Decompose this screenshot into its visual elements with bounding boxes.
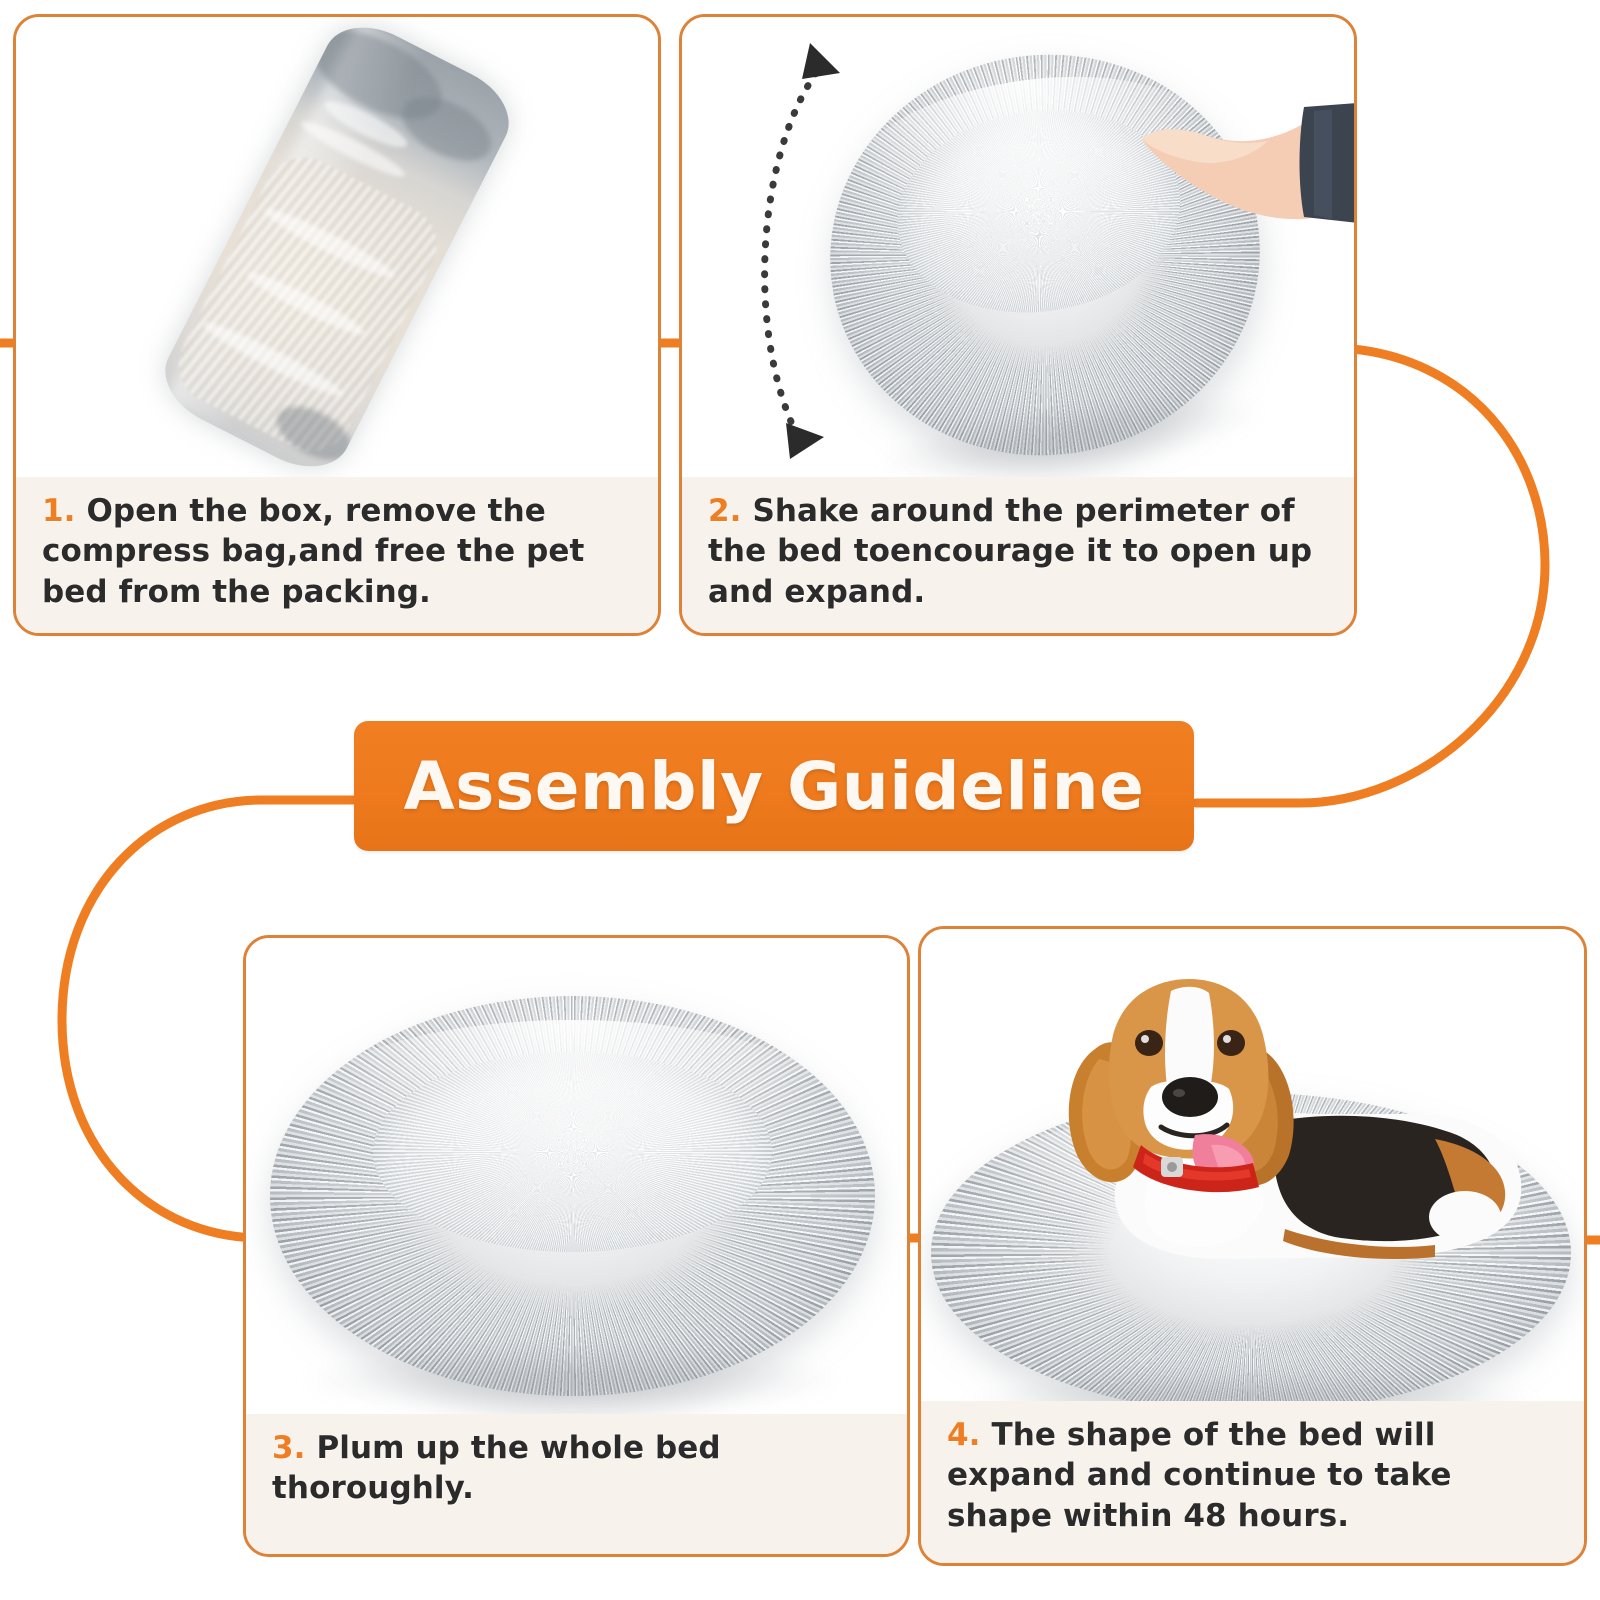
step-card-2: 2. Shake around the perimeter of the bed… [679, 14, 1357, 636]
assembly-guideline-infographic: 1. Open the box, remove the compress bag… [0, 0, 1600, 1600]
step-1-number: 1. [42, 493, 76, 529]
step-2-number: 2. [708, 493, 742, 529]
step-2-illustration [682, 17, 1354, 477]
step-2-caption: 2. Shake around the perimeter of the bed… [682, 477, 1354, 633]
step-1-caption: 1. Open the box, remove the compress bag… [16, 477, 658, 633]
shake-arrow-icon [728, 27, 948, 467]
step-card-1: 1. Open the box, remove the compress bag… [13, 14, 661, 636]
step-3-text: Plum up the whole bed thoroughly. [272, 1430, 721, 1506]
step-card-4: 4. The shape of the bed will expand and … [918, 926, 1587, 1566]
step-3-number: 3. [272, 1430, 306, 1466]
step-2-text: Shake around the perimeter of the bed to… [708, 493, 1312, 610]
beagle-dog-icon [965, 939, 1545, 1339]
step-3-illustration [246, 938, 907, 1414]
step-4-caption: 4. The shape of the bed will expand and … [921, 1401, 1584, 1563]
step-card-3: 3. Plum up the whole bed thoroughly. [243, 935, 910, 1557]
step-4-number: 4. [947, 1417, 981, 1453]
step-3-caption: 3. Plum up the whole bed thoroughly. [246, 1414, 907, 1554]
hand-icon [1108, 101, 1354, 251]
plush-donut-bed [270, 996, 875, 1396]
step-1-text: Open the box, remove the compress bag,an… [42, 493, 584, 610]
page-title: Assembly Guideline [404, 748, 1145, 825]
step-4-text: The shape of the bed will expand and con… [947, 1417, 1451, 1534]
compressed-roll-icon [16, 17, 658, 477]
step-1-illustration [16, 17, 658, 477]
step-4-illustration [921, 929, 1584, 1401]
page-title-banner: Assembly Guideline [354, 721, 1194, 851]
